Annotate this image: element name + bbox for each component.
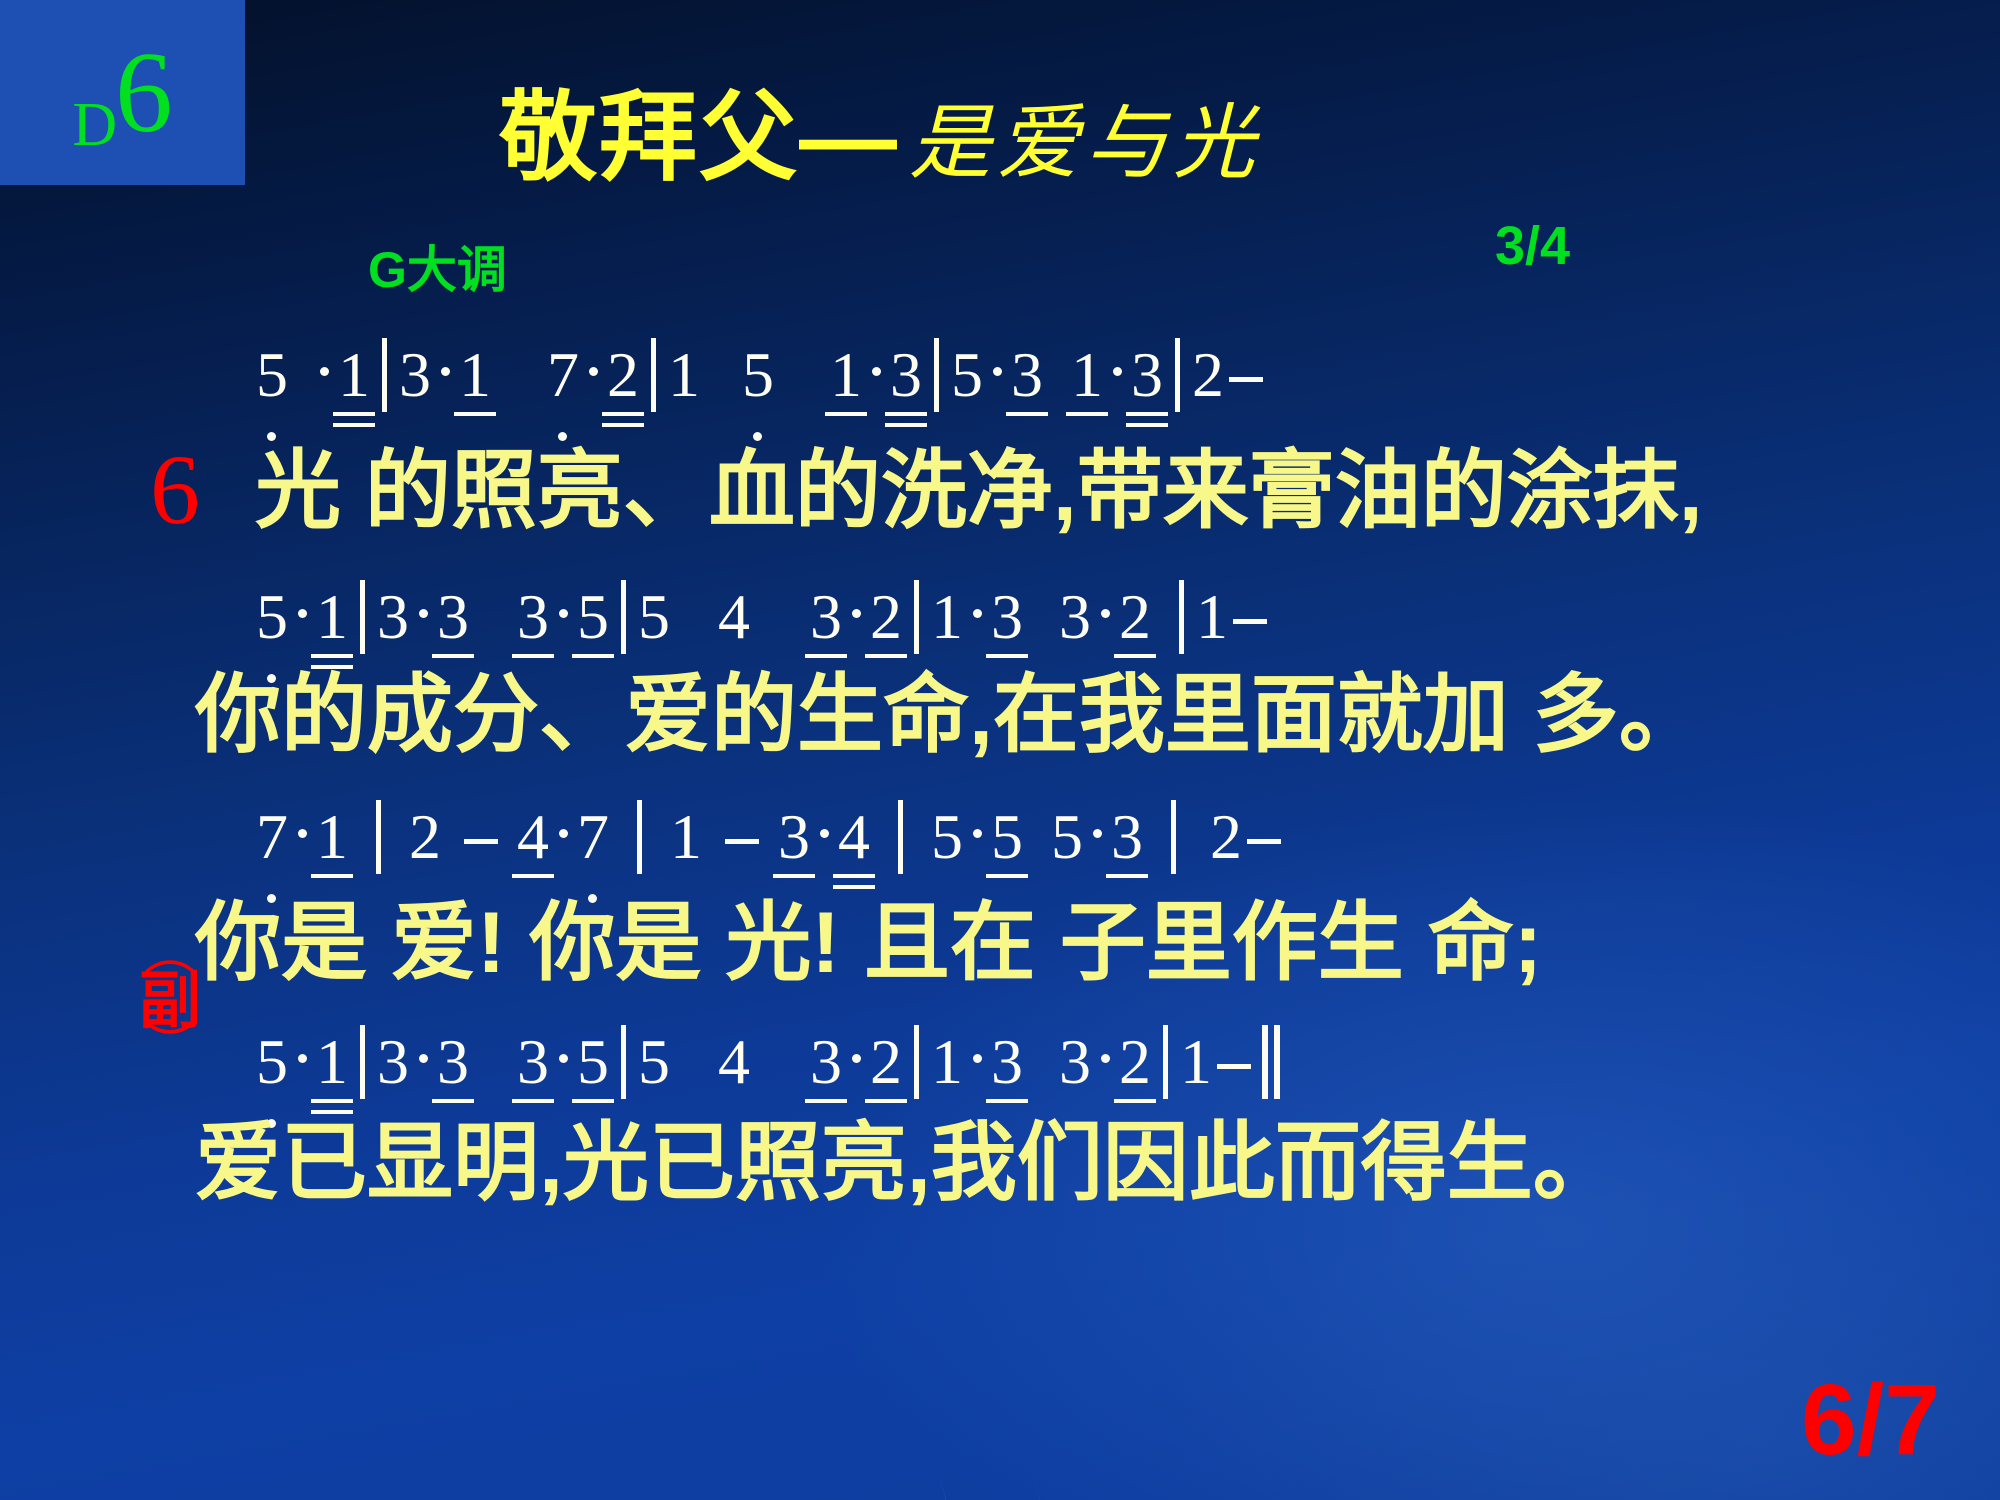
note: 4: [717, 585, 751, 649]
barline: [360, 580, 365, 654]
note: 5: [637, 585, 671, 649]
note: 1: [315, 805, 349, 869]
note: 3: [436, 585, 470, 649]
note: 3: [516, 1030, 550, 1094]
note: 3: [376, 585, 410, 649]
rhythm-dot: [843, 629, 869, 638]
note: 3: [1010, 343, 1044, 407]
sustain-dash: [1229, 377, 1263, 382]
rhythm-dot: [964, 849, 990, 858]
rhythm-dot: [1092, 629, 1118, 638]
note: 2: [1118, 585, 1152, 649]
sustain-dash: [1233, 619, 1267, 624]
rhythm-dot: [811, 849, 837, 858]
note: 3: [809, 585, 843, 649]
barline: [1163, 1025, 1168, 1099]
notation-row-2: 513335543213321: [255, 580, 1267, 654]
rhythm-dot: [289, 849, 315, 858]
note: 3: [516, 585, 550, 649]
note: 2: [1209, 805, 1243, 869]
rhythm-dot: [311, 387, 337, 396]
note: 1: [315, 585, 349, 649]
note: 1: [1070, 343, 1104, 407]
lyrics-line-4: 爱已显明,光已照亮,我们因此而得生。: [195, 1120, 1619, 1206]
barline: [637, 800, 642, 874]
lyrics-row-2: 你的成分、爱的生命,在我里面就加 多。: [195, 672, 1705, 758]
rhythm-dot: [984, 387, 1010, 396]
barline: [651, 338, 656, 412]
rhythm-dot: [550, 629, 576, 638]
note: 5: [576, 1030, 610, 1094]
rhythm-dot: [432, 387, 458, 396]
note: 3: [777, 805, 811, 869]
note: 1: [667, 343, 701, 407]
rhythm-dot: [863, 387, 889, 396]
sustain-dash: [464, 839, 498, 844]
note: 3: [990, 585, 1024, 649]
note: 2: [408, 805, 442, 869]
lyrics-line-1: 光 的照亮、血的洗净,带来膏油的涂抹,: [255, 448, 1703, 534]
note: 2: [869, 585, 903, 649]
barline: [1171, 800, 1176, 874]
note: 5: [990, 805, 1024, 869]
note: 5: [930, 805, 964, 869]
note: 1: [829, 343, 863, 407]
page-number: 6/7: [1801, 1363, 1940, 1478]
note: 3: [398, 343, 432, 407]
note: 2: [1191, 343, 1225, 407]
rhythm-dot: [964, 629, 990, 638]
notation-line-1: 513172151353132: [255, 338, 1263, 412]
note: 4: [837, 805, 871, 869]
note: 3: [1110, 805, 1144, 869]
rhythm-dot: [550, 849, 576, 858]
barline: [376, 800, 381, 874]
page-title: 敬拜父—是爱与光: [0, 58, 1760, 200]
notation-line-3: 7124713455532: [255, 800, 1281, 874]
barline: [621, 1025, 626, 1099]
barline: [360, 1025, 365, 1099]
note: 1: [930, 1030, 964, 1094]
note: 7: [576, 805, 610, 869]
barline: [914, 580, 919, 654]
note: 1: [315, 1030, 349, 1094]
verse-number: 6: [150, 440, 200, 540]
note: 4: [717, 1030, 751, 1094]
rhythm-dot: [580, 387, 606, 396]
note: 5: [950, 343, 984, 407]
lyrics-line-3: 你是 爱! 你是 光! 且在 子里作生 命;: [195, 900, 1542, 986]
lyrics-row-4: 爱已显明,光已照亮,我们因此而得生。: [195, 1120, 1619, 1206]
notation-row-3: 7124713455532: [255, 800, 1281, 874]
note: 5: [741, 343, 775, 407]
barline: [1175, 338, 1180, 412]
rhythm-dot: [550, 1074, 576, 1083]
rhythm-dot: [843, 1074, 869, 1083]
rhythm-dot: [964, 1074, 990, 1083]
chorus-paren-close: ︶: [120, 1034, 220, 1063]
notation-row-1: 513172151353132: [255, 338, 1263, 412]
sustain-dash: [725, 839, 759, 844]
lyrics-line-2: 你的成分、爱的生命,在我里面就加 多。: [195, 672, 1705, 758]
note: 3: [1058, 1030, 1092, 1094]
note: 3: [1058, 585, 1092, 649]
note: 5: [576, 585, 610, 649]
rhythm-dot: [410, 629, 436, 638]
barline: [934, 338, 939, 412]
rhythm-dot: [1092, 1074, 1118, 1083]
note: 5: [255, 585, 289, 649]
note: 2: [1118, 1030, 1152, 1094]
rhythm-dot: [1084, 849, 1110, 858]
barline: [898, 800, 903, 874]
note: 7: [255, 805, 289, 869]
note: 5: [1050, 805, 1084, 869]
slide-canvas: D6 敬拜父—是爱与光 G大调 3/4 6 ︵ 副 ︶ 513172151353…: [0, 0, 2000, 1500]
note: 1: [1179, 1030, 1213, 1094]
barline: [621, 580, 626, 654]
note: 7: [546, 343, 580, 407]
note: 4: [516, 805, 550, 869]
rhythm-dot: [410, 1074, 436, 1083]
note: 1: [458, 343, 492, 407]
note: 5: [255, 1030, 289, 1094]
title-sub: 是爱与光: [909, 98, 1261, 189]
notation-row-4: 513335543213321: [255, 1025, 1288, 1110]
barline: [1179, 580, 1184, 654]
note: 3: [990, 1030, 1024, 1094]
note: 3: [809, 1030, 843, 1094]
notation-line-4: 513335543213321: [255, 1025, 1288, 1110]
rhythm-dot: [289, 1074, 315, 1083]
barline: [382, 338, 387, 412]
barline: [914, 1025, 919, 1099]
notation-line-2: 513335543213321: [255, 580, 1267, 654]
final-barline: [1262, 1025, 1280, 1110]
title-main: 敬拜父—: [499, 82, 899, 192]
note: 3: [436, 1030, 470, 1094]
sustain-dash: [1247, 839, 1281, 844]
rhythm-dot: [289, 629, 315, 638]
note: 3: [1130, 343, 1164, 407]
note: 3: [376, 1030, 410, 1094]
note: 2: [606, 343, 640, 407]
note: 1: [337, 343, 371, 407]
note: 1: [669, 805, 703, 869]
key-signature: G大调: [368, 230, 507, 302]
rhythm-dot: [1104, 387, 1130, 396]
sustain-dash: [1217, 1064, 1251, 1069]
lyrics-row-1: 光 的照亮、血的洗净,带来膏油的涂抹,: [255, 448, 1703, 534]
time-signature: 3/4: [1495, 215, 1570, 277]
note: 3: [889, 343, 923, 407]
note: 1: [1195, 585, 1229, 649]
note: 5: [255, 343, 289, 407]
lyrics-row-3: 你是 爱! 你是 光! 且在 子里作生 命;: [195, 900, 1542, 986]
note: 1: [930, 585, 964, 649]
note: 2: [869, 1030, 903, 1094]
note: 5: [637, 1030, 671, 1094]
